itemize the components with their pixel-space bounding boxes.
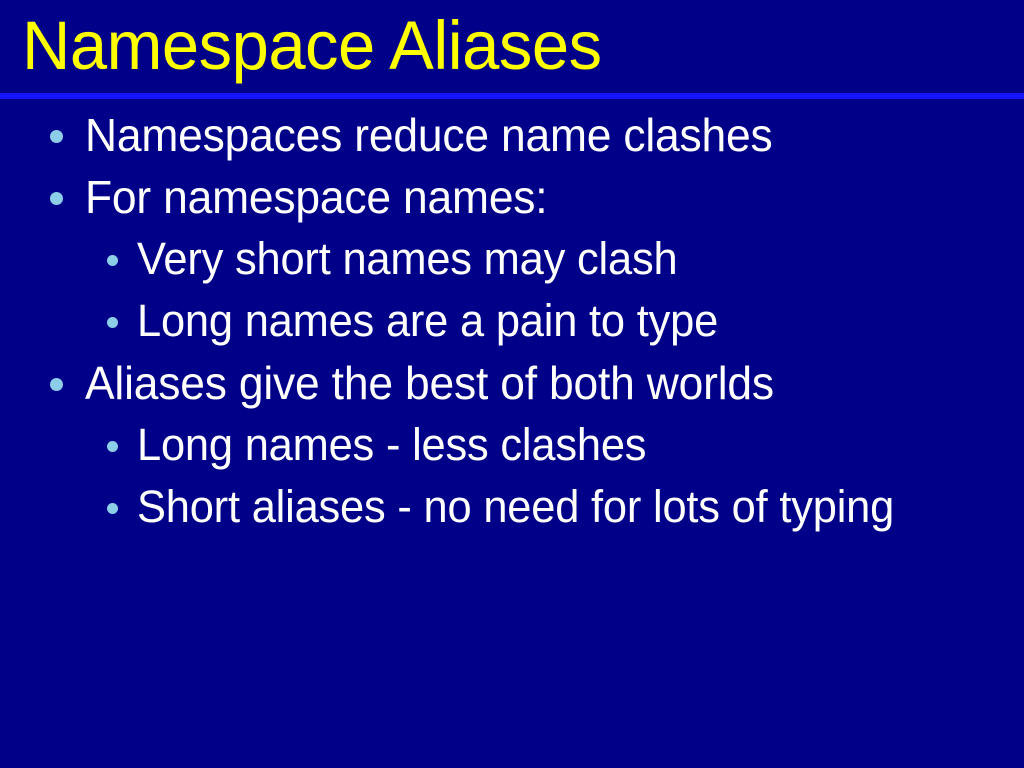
- list-item-label: Long names - less clashes: [137, 414, 899, 476]
- bullet-dot-icon: [107, 503, 118, 514]
- list-item: Short aliases - no need for lots of typi…: [0, 476, 1024, 538]
- list-item-label: For namespace names:: [85, 166, 991, 228]
- list-item: Long names - less clashes: [0, 414, 1024, 476]
- list-item: Long names are a pain to type: [0, 290, 1024, 352]
- list-item: Very short names may clash: [0, 228, 1024, 290]
- slide-title-area: Namespace Aliases: [0, 0, 1024, 93]
- title-divider-rule: [0, 93, 1024, 99]
- bullet-dot-icon: [50, 378, 63, 391]
- page-title: Namespace Aliases: [22, 3, 602, 89]
- list-item-label: Aliases give the best of both worlds: [85, 352, 991, 414]
- list-item-label: Long names are a pain to type: [137, 290, 899, 352]
- bullet-dot-icon: [107, 255, 118, 266]
- list-item-label: Very short names may clash: [137, 228, 899, 290]
- bullet-dot-icon: [50, 130, 63, 143]
- list-item: For namespace names:: [0, 166, 1024, 228]
- slide-body-bullet-list: Namespaces reduce name clashes For names…: [0, 104, 1024, 538]
- list-item: Aliases give the best of both worlds: [0, 352, 1024, 414]
- presentation-slide: Namespace Aliases Namespaces reduce name…: [0, 0, 1024, 768]
- list-item: Namespaces reduce name clashes: [0, 104, 1024, 166]
- list-item-label: Namespaces reduce name clashes: [85, 104, 991, 166]
- bullet-dot-icon: [50, 192, 63, 205]
- bullet-dot-icon: [107, 441, 118, 452]
- list-item-label: Short aliases - no need for lots of typi…: [137, 476, 899, 538]
- bullet-dot-icon: [107, 317, 118, 328]
